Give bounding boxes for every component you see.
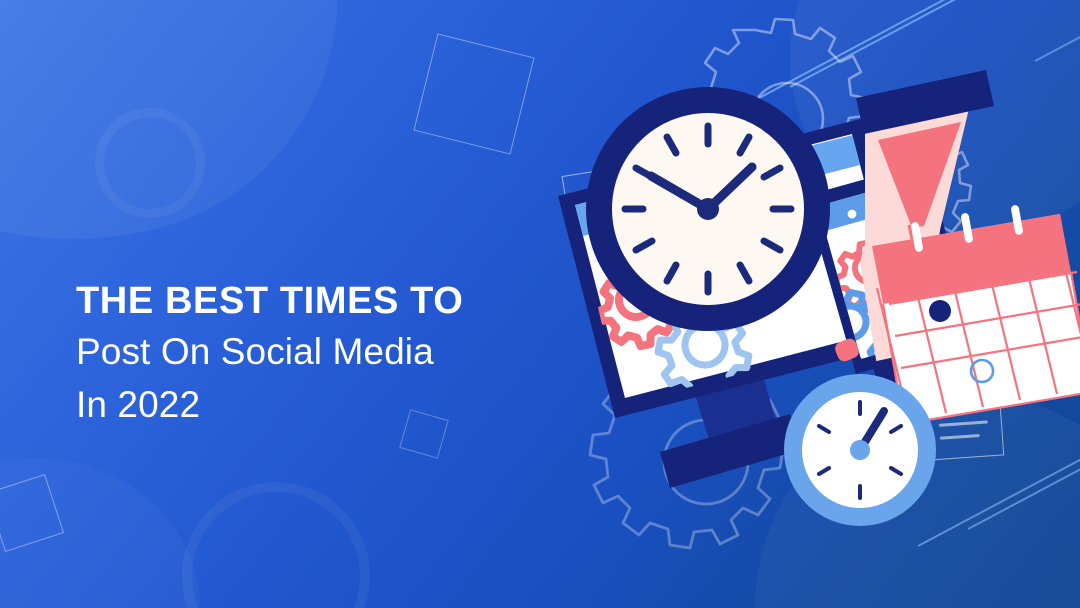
soft-ring-decoration [95,108,205,218]
tablet-dot-1 [848,210,857,219]
illustration-group [520,0,1080,608]
banner-root: THE BEST TIMES TO Post On Social Media I… [0,0,1080,608]
headline-line-1: THE BEST TIMES TO [76,278,463,324]
soft-ring-decoration-bottom [182,482,370,608]
square-outline-bottom-left [0,474,64,552]
soft-blob-bottom-left [0,458,200,608]
stopwatch-center-hub [850,440,870,460]
clock-center-hub [697,198,719,220]
headline-block: THE BEST TIMES TO Post On Social Media I… [76,278,463,431]
analog-clock [586,87,830,331]
square-outline-top [413,33,534,154]
calendar-marked-date-filled[interactable] [929,300,951,322]
headline-line-2: Post On Social Media In 2022 [76,326,463,431]
soft-blob-top-left [0,0,383,289]
illustration-svg [520,0,1080,608]
